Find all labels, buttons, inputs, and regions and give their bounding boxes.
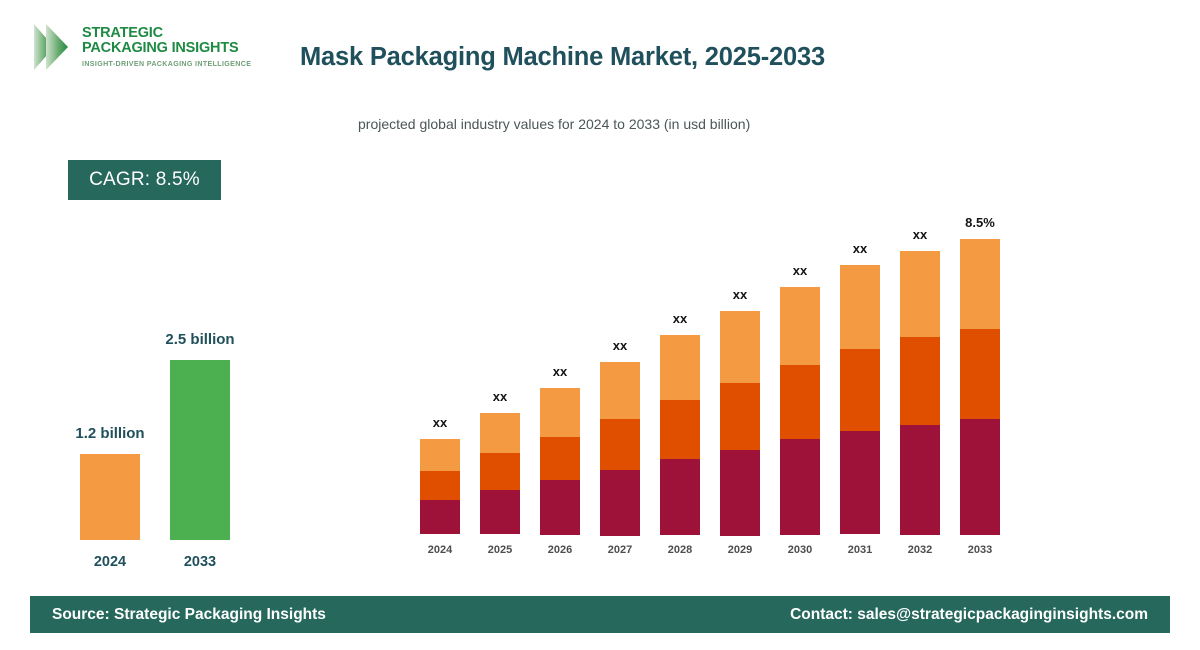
stacked-bar-2029 [720, 311, 760, 535]
logo-line-2: PACKAGING INSIGHTS [82, 41, 251, 56]
stacked-bar-2030 [780, 287, 820, 535]
green-chevron-icon [32, 21, 76, 73]
bar-segment-segment-bottom-2024 [420, 500, 460, 534]
bar-group-2025: xx2025 [480, 200, 520, 560]
bar-group-2024: xx2024 [420, 200, 460, 560]
bar-segment-segment-bottom-2027 [600, 470, 640, 536]
bar-2033 [170, 360, 230, 540]
bar-segment-segment-bottom-2025 [480, 490, 520, 534]
bar-segment-segment-top-2029 [720, 311, 760, 383]
x-axis-label-2029: 2029 [720, 544, 760, 556]
bar-group-2033: 8.5%2033 [960, 200, 1000, 560]
cagr-badge-label: CAGR: 8.5% [89, 169, 200, 191]
bar-top-label-2028: xx [650, 311, 710, 326]
bar-top-label-2029: xx [710, 287, 770, 302]
x-axis-label-2032: 2032 [900, 544, 940, 556]
page-subtitle: projected global industry values for 202… [358, 116, 750, 132]
yearly-stacked-forecast-chart: xx2024xx2025xx2026xx2027xx2028xx2029xx20… [406, 200, 1006, 560]
bar-segment-segment-bottom-2026 [540, 480, 580, 535]
bar-top-label-2032: xx [890, 227, 950, 242]
bar-top-label-2024: xx [410, 415, 470, 430]
logo-wordmark: STRATEGIC PACKAGING INSIGHTS INSIGHT-DRI… [82, 26, 251, 68]
bar-segment-segment-middle-2031 [840, 349, 880, 431]
bar-group-2027: xx2027 [600, 200, 640, 560]
x-axis-label-2025: 2025 [480, 544, 520, 556]
cagr-badge: CAGR: 8.5% [68, 160, 221, 200]
bar-segment-segment-top-2033 [960, 239, 1000, 329]
bar-segment-segment-top-2028 [660, 335, 700, 400]
logo-tagline: INSIGHT-DRIVEN PACKAGING INTELLIGENCE [82, 60, 251, 68]
bar-2024 [80, 454, 140, 540]
bar-segment-segment-middle-2025 [480, 453, 520, 490]
x-axis-label-2024: 2024 [420, 544, 460, 556]
company-logo: STRATEGIC PACKAGING INSIGHTS INSIGHT-DRI… [32, 18, 292, 76]
footer-bar: Source: Strategic Packaging Insights Con… [30, 596, 1170, 633]
bar-segment-segment-bottom-2031 [840, 431, 880, 534]
stacked-bar-2027 [600, 362, 640, 535]
bar-value-label-2024: 1.2 billion [40, 425, 180, 442]
bar-top-label-2033: 8.5% [950, 215, 1010, 230]
bar-segment-segment-top-2030 [780, 287, 820, 365]
bar-segment-segment-middle-2028 [660, 400, 700, 459]
x-axis-label-2033: 2033 [170, 554, 230, 570]
x-axis-label-2028: 2028 [660, 544, 700, 556]
bar-segment-segment-middle-2032 [900, 337, 940, 425]
stacked-bar-2025 [480, 413, 520, 535]
bar-group-2031: xx2031 [840, 200, 880, 560]
stacked-bar-2032 [900, 251, 940, 535]
bar-segment-segment-bottom-2032 [900, 425, 940, 535]
bar-value-label-2033: 2.5 billion [130, 331, 270, 348]
bar-group-2030: xx2030 [780, 200, 820, 560]
x-axis-label-2024: 2024 [80, 554, 140, 570]
bar-segment-segment-top-2024 [420, 439, 460, 471]
x-axis-label-2031: 2031 [840, 544, 880, 556]
bar-segment-segment-top-2032 [900, 251, 940, 337]
stacked-bar-2028 [660, 335, 700, 535]
x-axis-label-2033: 2033 [960, 544, 1000, 556]
footer-source: Source: Strategic Packaging Insights [52, 606, 326, 624]
bar-top-label-2026: xx [530, 364, 590, 379]
bar-segment-segment-bottom-2028 [660, 459, 700, 535]
bar-top-label-2031: xx [830, 241, 890, 256]
bar-group-2024 [80, 454, 140, 540]
bar-top-label-2025: xx [470, 389, 530, 404]
page-title: Mask Packaging Machine Market, 2025-2033 [300, 43, 825, 72]
bar-segment-segment-middle-2027 [600, 419, 640, 470]
bar-segment-segment-middle-2033 [960, 329, 1000, 419]
logo-line-1: STRATEGIC [82, 26, 251, 41]
stacked-bar-2031 [840, 265, 880, 535]
bar-segment-segment-top-2027 [600, 362, 640, 419]
stacked-bar-2026 [540, 388, 580, 535]
bar-group-2029: xx2029 [720, 200, 760, 560]
bar-group-2028: xx2028 [660, 200, 700, 560]
bar-segment-segment-top-2025 [480, 413, 520, 453]
bar-top-label-2030: xx [770, 263, 830, 278]
bar-segment-segment-top-2026 [540, 388, 580, 437]
bar-segment-segment-middle-2026 [540, 437, 580, 480]
stacked-bar-2033 [960, 239, 1000, 535]
footer-contact: Contact: sales@strategicpackaginginsight… [790, 606, 1148, 624]
bar-segment-segment-bottom-2030 [780, 439, 820, 535]
endpoint-comparison-chart: 1.2 billion20242.5 billion2033 [55, 300, 265, 570]
x-axis-label-2030: 2030 [780, 544, 820, 556]
bar-top-label-2027: xx [590, 338, 650, 353]
bar-group-2033 [170, 360, 230, 540]
bar-segment-segment-bottom-2029 [720, 450, 760, 536]
bar-group-2026: xx2026 [540, 200, 580, 560]
bar-segment-segment-middle-2029 [720, 383, 760, 450]
x-axis-label-2027: 2027 [600, 544, 640, 556]
bar-segment-segment-top-2031 [840, 265, 880, 349]
bar-group-2032: xx2032 [900, 200, 940, 560]
bar-segment-segment-bottom-2033 [960, 419, 1000, 535]
bar-segment-segment-middle-2024 [420, 471, 460, 500]
x-axis-label-2026: 2026 [540, 544, 580, 556]
bar-segment-segment-middle-2030 [780, 365, 820, 439]
stacked-bar-2024 [420, 439, 460, 535]
